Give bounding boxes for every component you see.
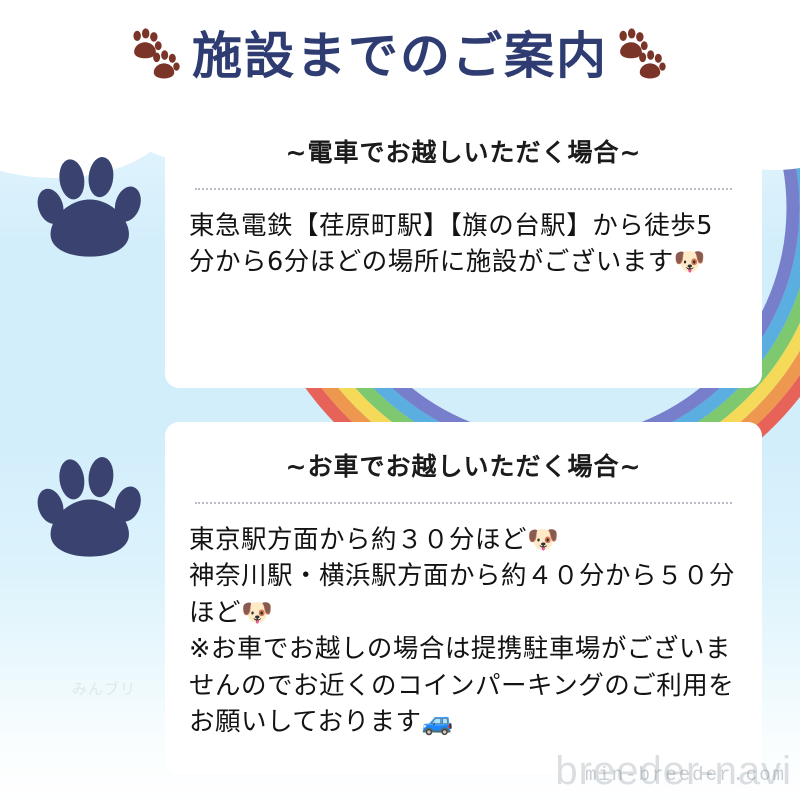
cloud-band: [0, 0, 800, 120]
side-paw-marker-2: [36, 448, 148, 560]
card-divider: [195, 188, 732, 190]
car-access-card: ~お車でお越しいただく場合~ 東京駅方面から約３０分ほど🐶 神奈川駅・横浜駅方面…: [165, 422, 762, 774]
train-access-heading: ~電車でお越しいただく場合~: [189, 138, 738, 168]
train-access-card: ~電車でお越しいただく場合~ 東急電鉄【荏原町駅】【旗の台駅】から徒歩5分から6…: [165, 108, 762, 388]
paw-print-icon: [36, 156, 145, 257]
car-access-heading: ~お車でお越しいただく場合~: [189, 452, 738, 482]
train-access-body: 東急電鉄【荏原町駅】【旗の台駅】から徒歩5分から6分ほどの場所に施設がございます…: [189, 208, 738, 281]
car-access-body: 東京駅方面から約３０分ほど🐶 神奈川駅・横浜駅方面から約４０分から５０分ほど🐶 …: [189, 522, 738, 741]
side-paw-marker-1: [36, 148, 148, 260]
faint-watermark: みんブリ: [72, 678, 136, 699]
poster-canvas: 施設までのご案内: [0, 0, 800, 800]
paw-print-icon: [36, 456, 145, 557]
card-divider: [195, 502, 732, 504]
